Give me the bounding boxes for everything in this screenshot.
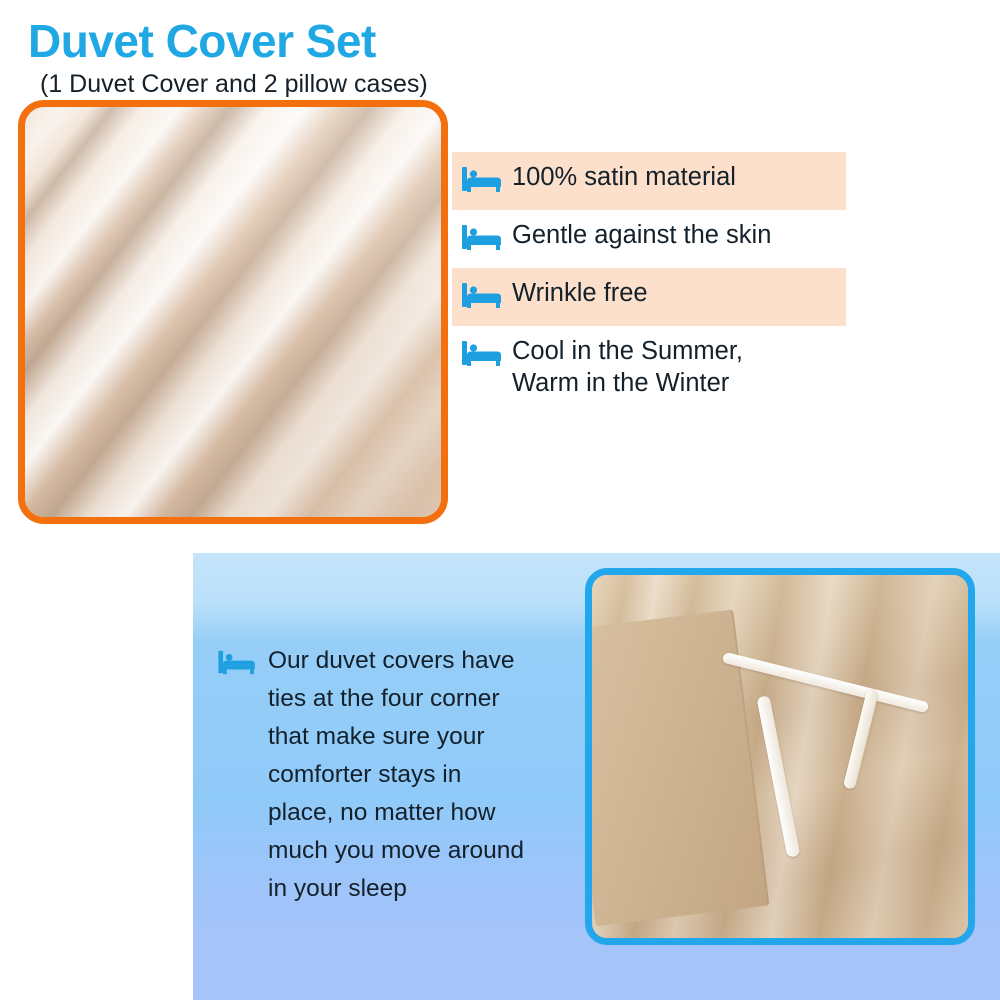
page-subtitle: (1 Duvet Cover and 2 pillow cases) [40, 70, 428, 99]
feature-item-cool-warm: Cool in the Summer, Warm in the Winter [452, 326, 846, 407]
ribbon-tie [757, 695, 801, 858]
bed-icon [462, 338, 504, 368]
bed-icon [462, 164, 504, 194]
bed-icon [462, 222, 504, 252]
satin-tie-photo-image [592, 575, 968, 938]
fabric-photo-image [25, 107, 441, 517]
infographic-page: Duvet Cover Set (1 Duvet Cover and 2 pil… [0, 0, 1000, 1000]
page-title: Duvet Cover Set [28, 14, 376, 68]
feature-label: 100% satin material [512, 160, 736, 193]
feature-label: Cool in the Summer, Warm in the Winter [512, 334, 743, 399]
tie-description-block: Our duvet covers have ties at the four c… [218, 642, 578, 908]
satin-tie-photo [585, 568, 975, 945]
feature-list: 100% satin material Gentle against the s… [452, 152, 846, 407]
feature-item-gentle-skin: Gentle against the skin [452, 210, 846, 268]
feature-label: Wrinkle free [512, 276, 648, 309]
ribbon-tie [843, 688, 879, 790]
fabric-photo [18, 100, 448, 524]
bed-icon [218, 648, 258, 676]
tie-description-text: Our duvet covers have ties at the four c… [268, 642, 524, 908]
feature-label: Gentle against the skin [512, 218, 771, 251]
feature-item-wrinkle-free: Wrinkle free [452, 268, 846, 326]
feature-item-satin-material: 100% satin material [452, 152, 846, 210]
ribbon-tie [721, 651, 929, 712]
bed-icon [462, 280, 504, 310]
